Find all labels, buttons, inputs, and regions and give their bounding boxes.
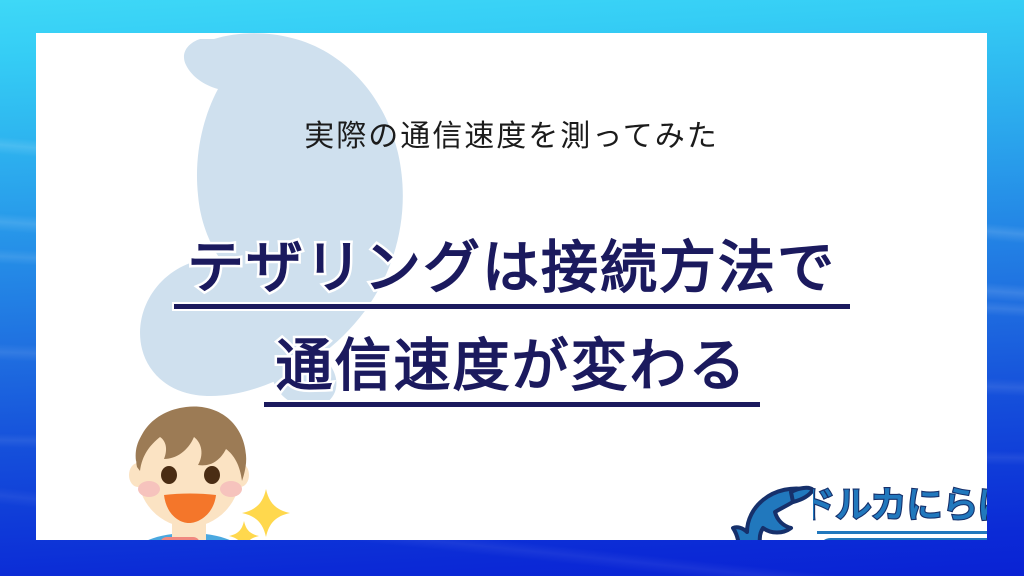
title-line-1-text: テザリングは接続方法で <box>187 236 836 300</box>
title-line-2-underline <box>264 402 760 407</box>
logo-tagline-badge: スマホ・格安SIM情報 <box>819 538 987 540</box>
title-line-1: テザリングは接続方法で <box>36 219 987 317</box>
main-title: テザリングは接続方法で 通信速度が変わる <box>36 219 987 415</box>
dolphin-icon <box>729 484 815 540</box>
logo-wordmark: ドルカにらぼ <box>813 480 987 528</box>
content-card: 実際の通信速度を測ってみた テザリングは接続方法で 通信速度が変わる <box>36 33 987 540</box>
site-logo[interactable]: ドルカにらぼ スマホ・格安SIM情報 <box>729 480 987 540</box>
logo-wordmark-text: ドルカにらぼ <box>813 484 987 525</box>
thumbnail-canvas: 実際の通信速度を測ってみた テザリングは接続方法で 通信速度が変わる <box>0 0 1024 576</box>
boy-with-smartphone-illustration <box>94 401 284 540</box>
subtitle-text: 実際の通信速度を測ってみた <box>36 111 987 155</box>
logo-divider <box>817 531 987 534</box>
title-line-1-underline <box>174 304 850 309</box>
title-line-2-text: 通信速度が変わる <box>276 334 748 398</box>
